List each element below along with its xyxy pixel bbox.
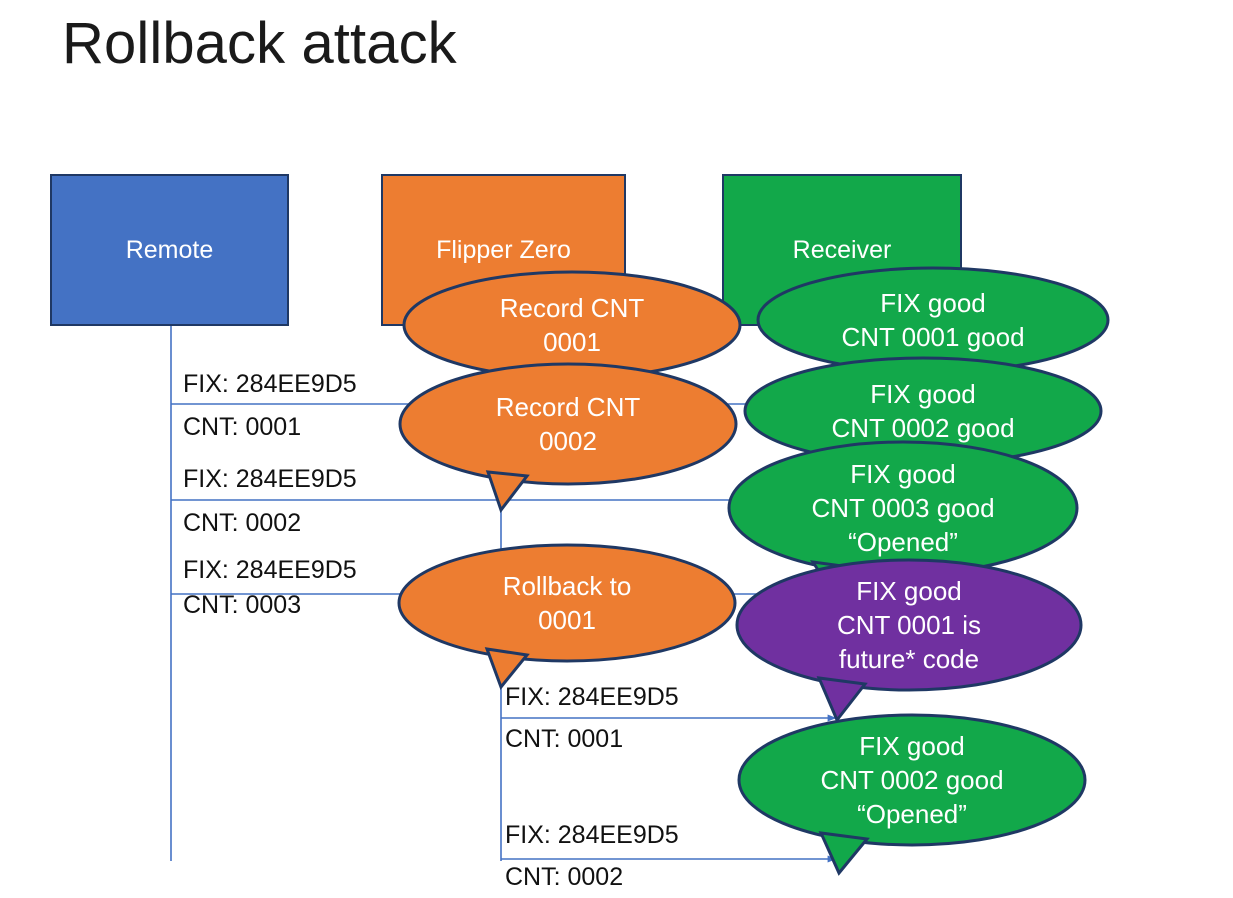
actor-box-remote[interactable]: Remote — [50, 174, 289, 326]
message-label-5-fix: FIX: 284EE9D5 — [505, 822, 679, 850]
message-label-2-fix: FIX: 284EE9D5 — [183, 466, 357, 494]
message-label-3-cnt: CNT: 0003 — [183, 592, 301, 620]
callout-receiver-cnt-0003[interactable]: FIX good CNT 0003 good “Opened” — [729, 442, 1077, 574]
message-label-4-fix: FIX: 284EE9D5 — [505, 684, 679, 712]
callout-flipper-record-0001[interactable]: Record CNT 0001 — [404, 272, 740, 378]
callout-flipper-record-0002[interactable]: Record CNT 0002 — [400, 364, 736, 484]
callout-receiver-opened-2[interactable]: FIX good CNT 0002 good “Opened” — [739, 715, 1085, 845]
callout-receiver-cnt-0001[interactable]: FIX good CNT 0001 good — [758, 268, 1108, 372]
actor-label-receiver: Receiver — [793, 236, 892, 265]
message-label-4-cnt: CNT: 0001 — [505, 726, 623, 754]
message-label-5-cnt: CNT: 0002 — [505, 864, 623, 892]
message-label-1-cnt: CNT: 0001 — [183, 414, 301, 442]
callout-flipper-rollback[interactable]: Rollback to 0001 — [399, 545, 735, 661]
message-label-1-fix: FIX: 284EE9D5 — [183, 371, 357, 399]
message-label-3-fix: FIX: 284EE9D5 — [183, 557, 357, 585]
actor-label-flipper: Flipper Zero — [436, 236, 571, 265]
callout-receiver-future-code[interactable]: FIX good CNT 0001 is future* code — [737, 560, 1081, 690]
slide-canvas: Rollback attack Remote Flipper Zero Rece… — [0, 0, 1233, 898]
message-label-2-cnt: CNT: 0002 — [183, 510, 301, 538]
actor-label-remote: Remote — [126, 236, 214, 265]
